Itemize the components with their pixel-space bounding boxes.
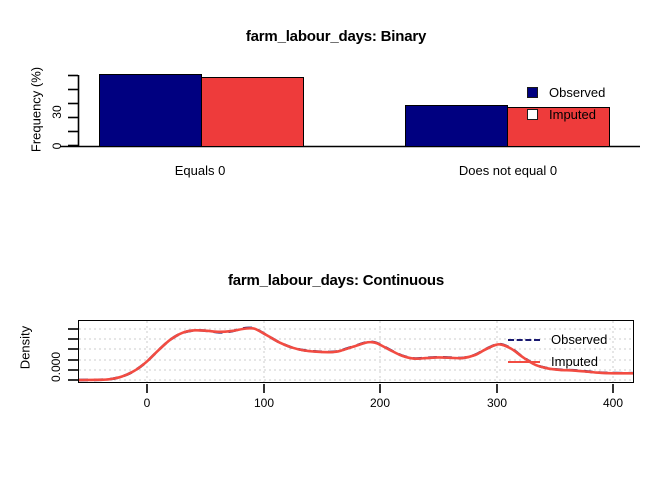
- continuous-legend-item-observed: Observed: [508, 332, 607, 347]
- continuous-legend-label-imputed: Imputed: [551, 354, 598, 369]
- bar-observed-does-not-equal-0: [405, 105, 508, 147]
- imputed-swatch-icon: [527, 109, 538, 120]
- continuous-xtick-300: 300: [477, 396, 517, 410]
- continuous-xtick-200: 200: [360, 396, 400, 410]
- continuous-xtick-400: 400: [593, 396, 633, 410]
- continuous-xtick-100: 100: [244, 396, 284, 410]
- observed-swatch-icon: [527, 87, 538, 98]
- binary-legend-label-imputed: Imputed: [549, 107, 596, 122]
- bar-imputed-equals-0: [201, 77, 304, 147]
- binary-category-label-does-not-equal-0: Does not equal 0: [418, 163, 598, 178]
- binary-category-label-equals-0: Equals 0: [130, 163, 270, 178]
- binary-legend-item-observed: Observed: [527, 85, 605, 100]
- grid-lines-vertical: [147, 321, 613, 382]
- continuous-legend-label-observed: Observed: [551, 332, 607, 347]
- continuous-legend-item-imputed: Imputed: [508, 354, 598, 369]
- observed-dashed-line-icon: [508, 339, 540, 341]
- continuous-density-chart: farm_labour_days: Continuous Density 0.0…: [0, 240, 672, 480]
- binary-bar-chart: farm_labour_days: Binary Frequency (%) 0…: [0, 0, 672, 240]
- imputed-solid-line-icon: [508, 361, 540, 363]
- continuous-x-ticks: [147, 384, 613, 393]
- continuous-xtick-0: 0: [127, 396, 167, 410]
- binary-legend-item-imputed: Imputed: [527, 107, 596, 122]
- continuous-y-ticks: [68, 329, 78, 380]
- binary-legend-label-observed: Observed: [549, 85, 605, 100]
- bar-observed-equals-0: [99, 74, 202, 147]
